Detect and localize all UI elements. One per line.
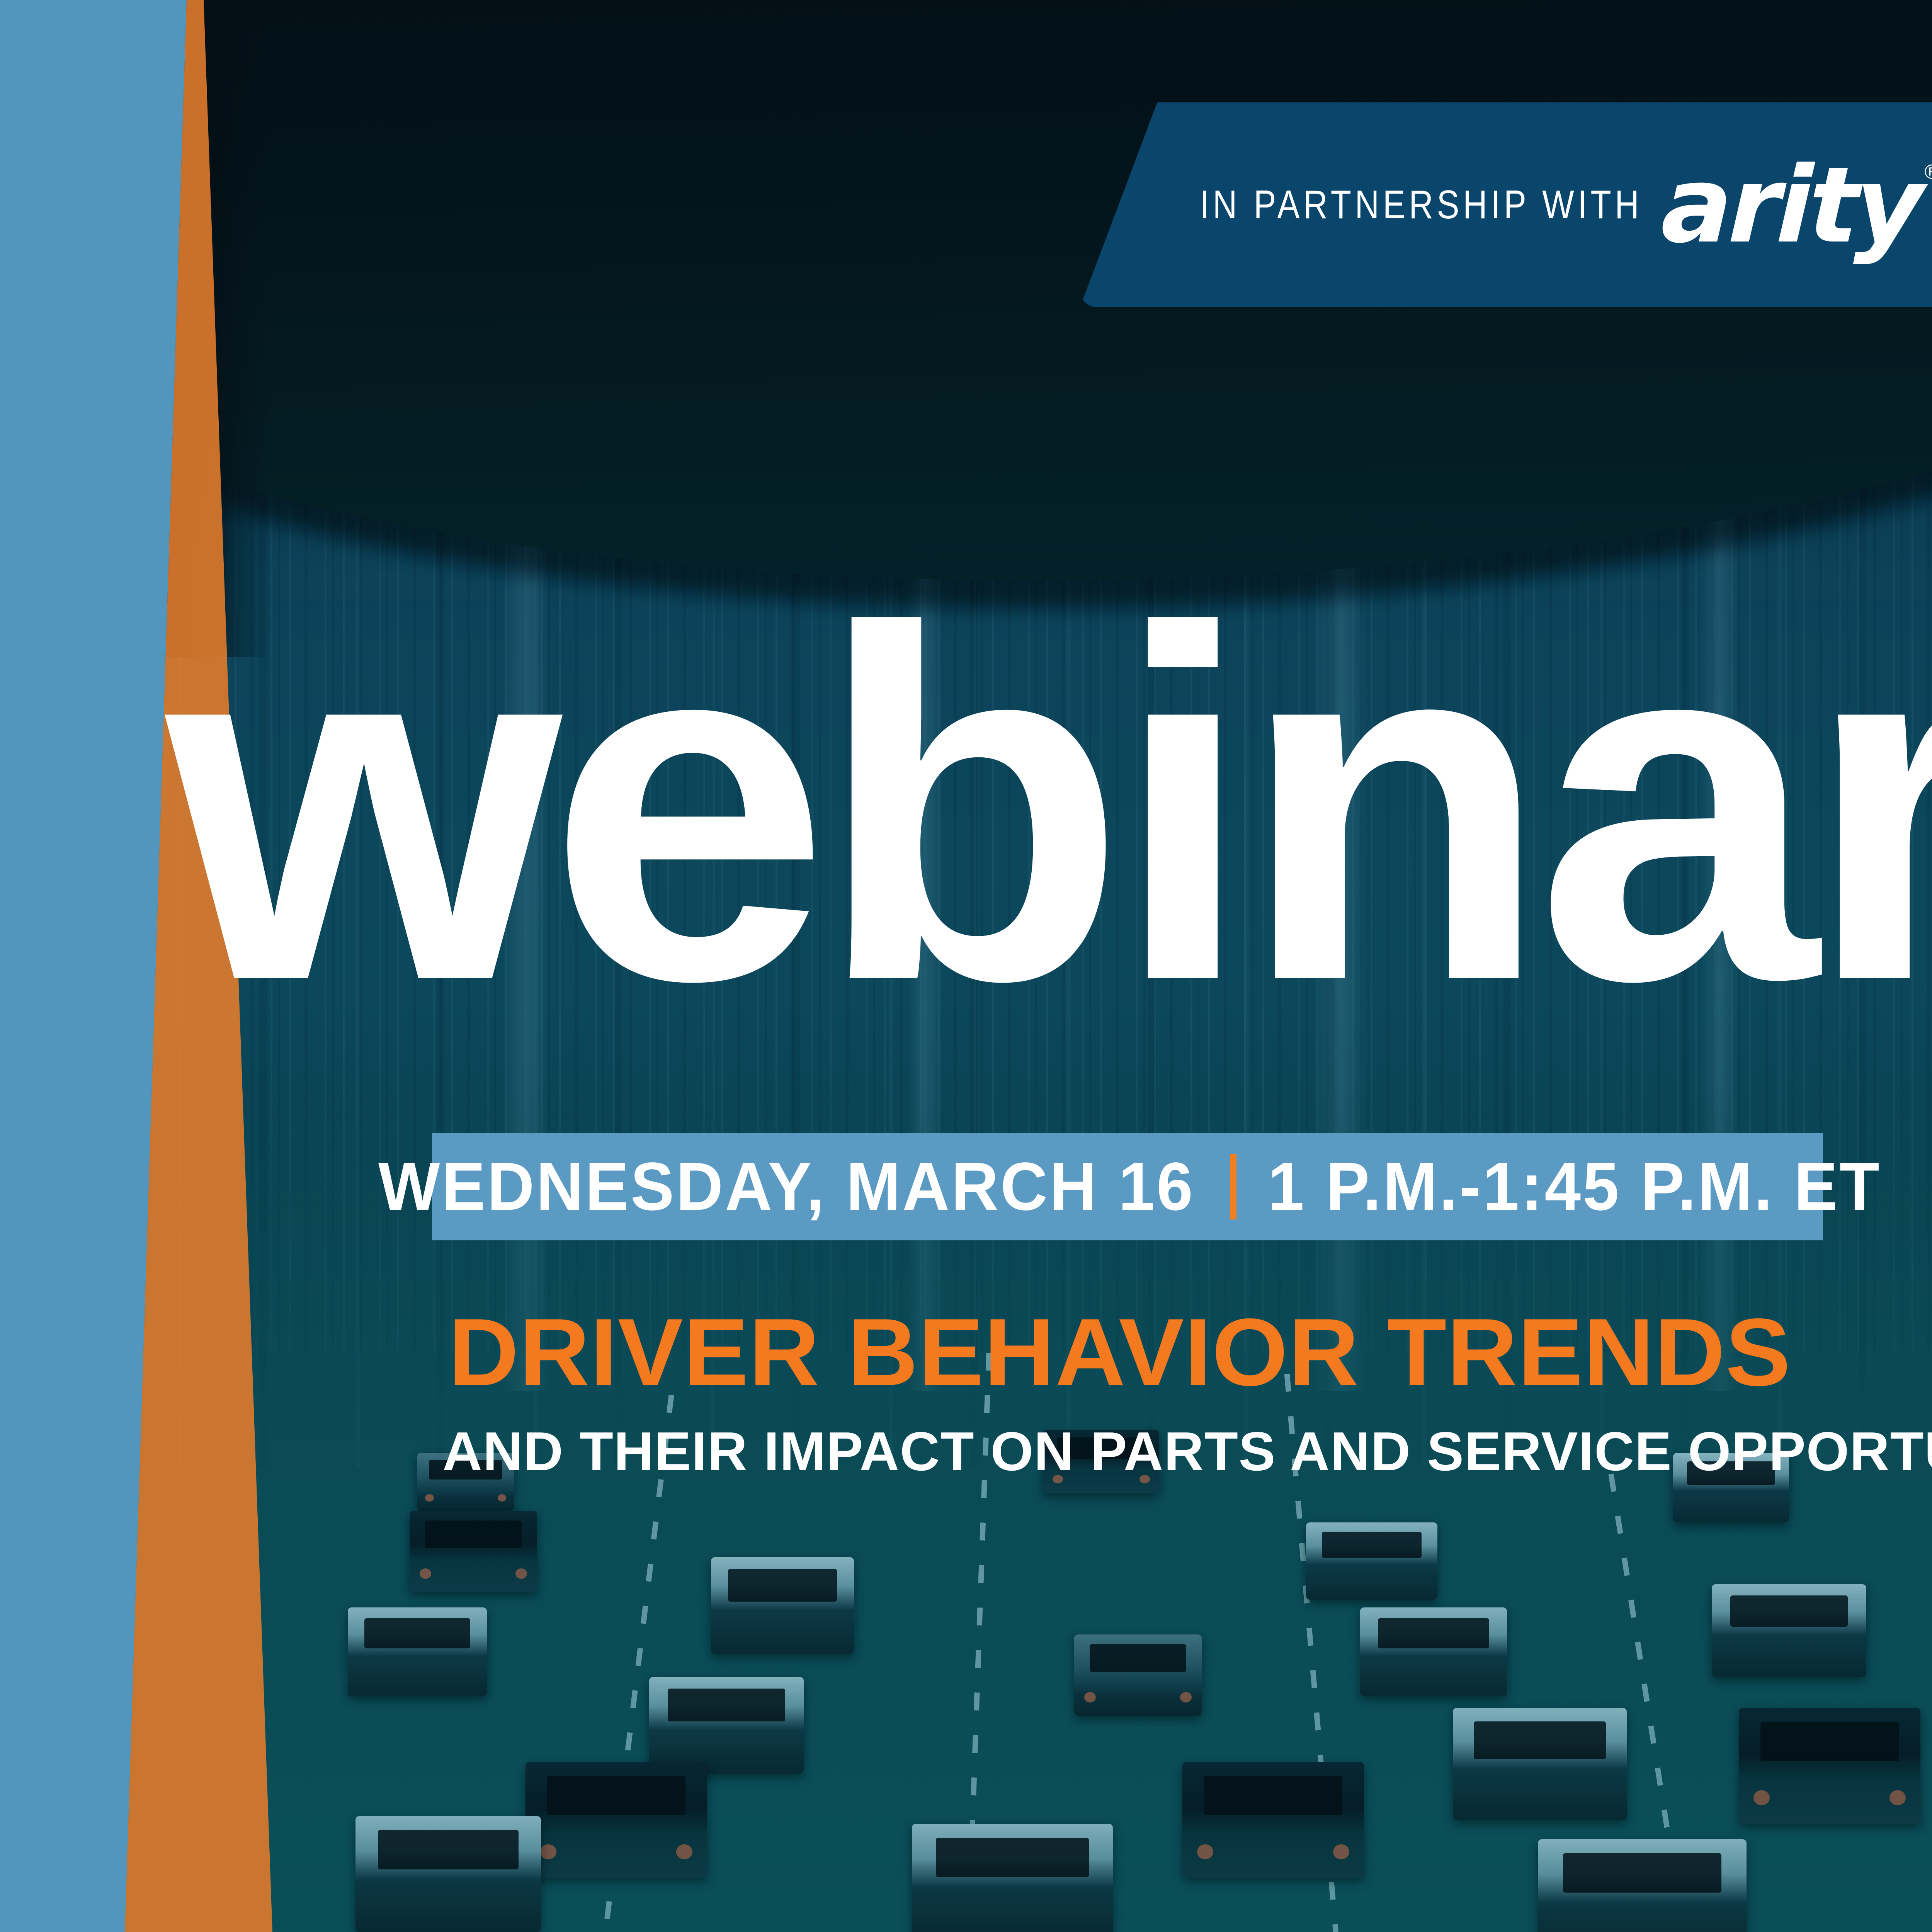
event-date: WEDNESDAY, MARCH 16 [378, 1148, 1195, 1226]
banner-divider [1230, 1154, 1236, 1219]
partner-badge: IN PARTNERSHIP WITH arity ® [1080, 102, 1932, 307]
page-subtitle: AND THEIR IMPACT ON PARTS AND SERVICE OP… [442, 1424, 1829, 1479]
partner-label: IN PARTNERSHIP WITH [1200, 182, 1643, 228]
page-title: DRIVER BEHAVIOR TRENDS [448, 1305, 1851, 1399]
date-time-banner: WEDNESDAY, MARCH 16 1 P.M.-1:45 P.M. ET [432, 1133, 1823, 1240]
arity-wordmark: arity [1660, 163, 1921, 249]
event-time: 1 P.M.-1:45 P.M. ET [1268, 1148, 1881, 1226]
webinar-wordmark: webinar [166, 591, 1861, 1020]
registered-trademark-icon: ® [1922, 161, 1932, 184]
arity-logo: arity ® [1662, 161, 1932, 249]
webinar-poster: IN PARTNERSHIP WITH arity ® webinar WEDN… [0, 0, 1932, 1932]
